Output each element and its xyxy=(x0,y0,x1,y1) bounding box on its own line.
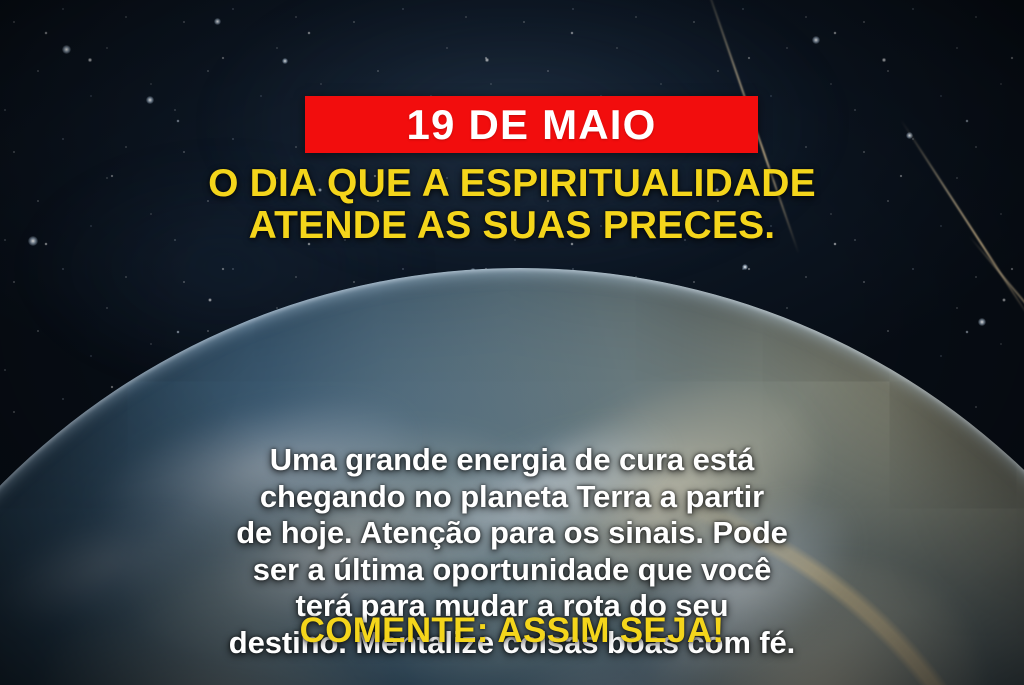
poster-content: 19 DE MAIO O DIA QUE A ESPIRITUALIDADE A… xyxy=(0,0,1024,685)
body-copy-line-4: ser a última oportunidade que você xyxy=(52,552,972,589)
headline-line-2: ATENDE AS SUAS PRECES. xyxy=(0,205,1024,247)
poster-canvas: 19 DE MAIO O DIA QUE A ESPIRITUALIDADE A… xyxy=(0,0,1024,685)
headline: O DIA QUE A ESPIRITUALIDADE ATENDE AS SU… xyxy=(0,163,1024,247)
body-copy-line-3: de hoje. Atenção para os sinais. Pode xyxy=(52,515,972,552)
body-copy-line-2: chegando no planeta Terra a partir xyxy=(52,479,972,516)
date-banner: 19 DE MAIO xyxy=(305,96,758,153)
call-to-action-text: COMENTE: ASSIM SEJA! xyxy=(300,611,725,650)
body-copy-line-1: Uma grande energia de cura está xyxy=(52,442,972,479)
headline-line-1: O DIA QUE A ESPIRITUALIDADE xyxy=(0,163,1024,205)
call-to-action: COMENTE: ASSIM SEJA! xyxy=(0,613,1024,648)
date-banner-text: 19 DE MAIO xyxy=(406,104,656,146)
